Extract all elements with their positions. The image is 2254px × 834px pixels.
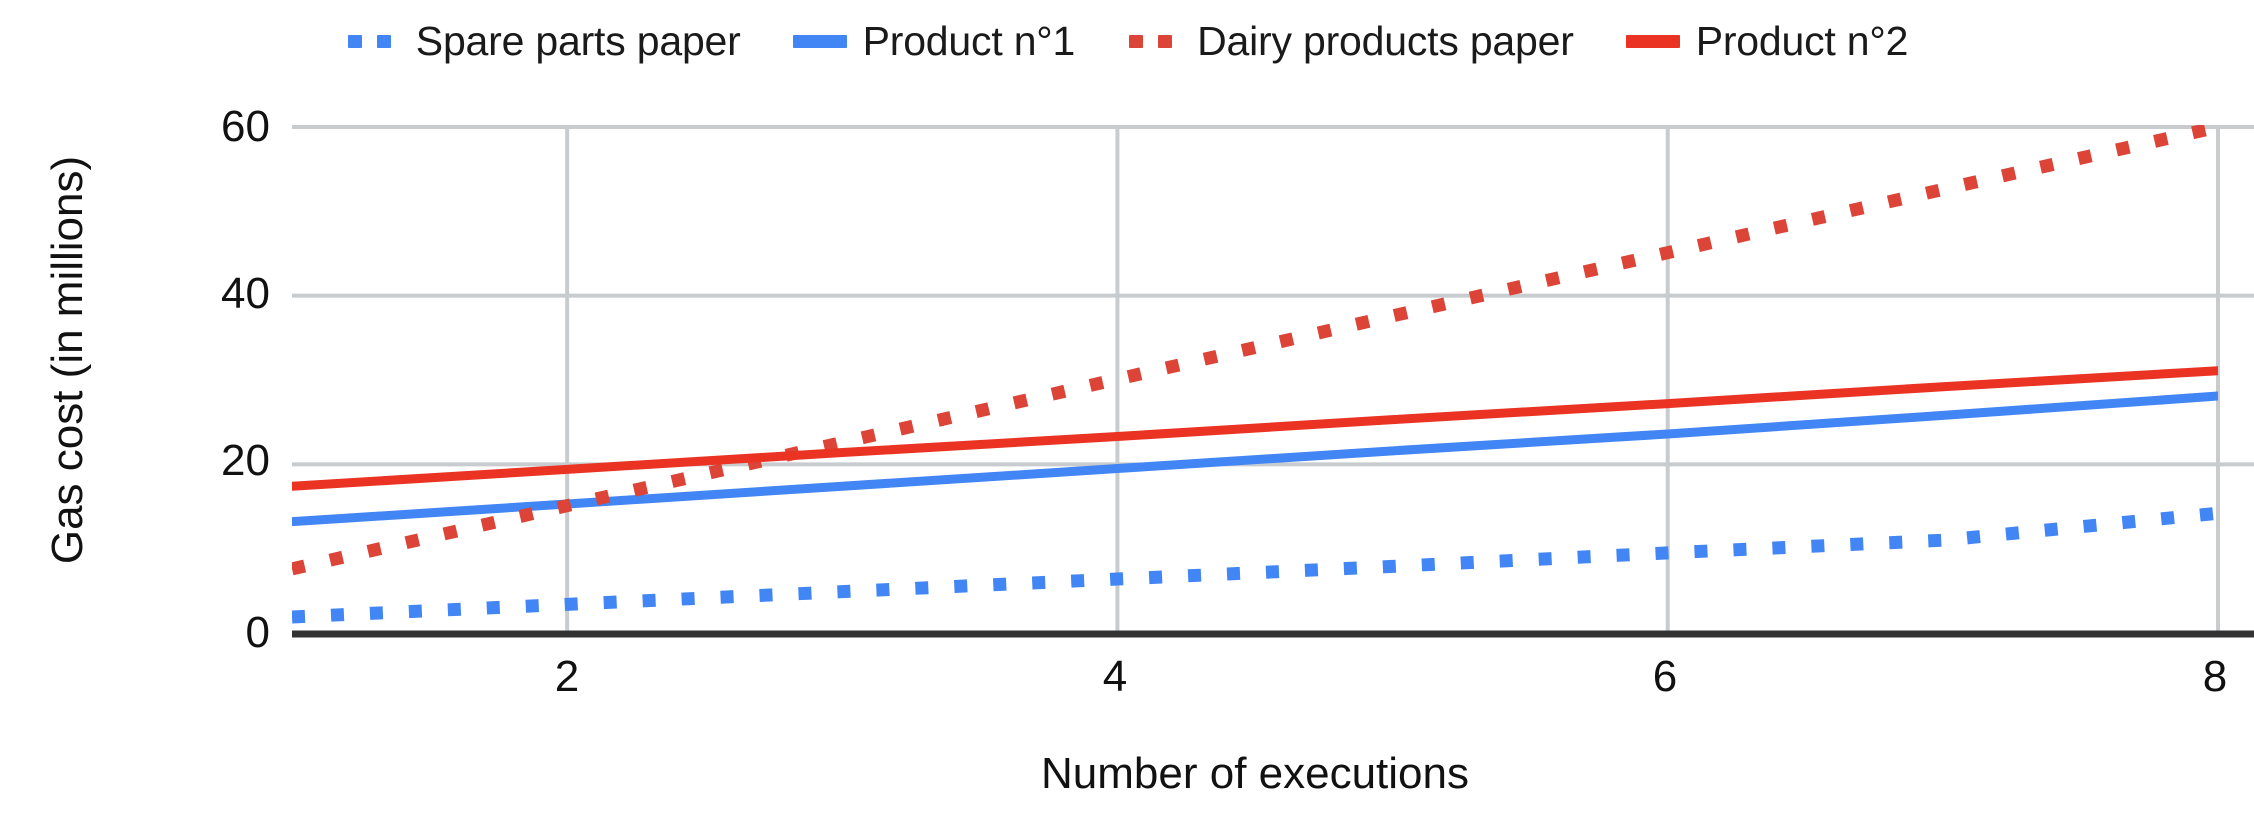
line-chart: Spare parts paper Product n°1 Dairy prod…: [0, 0, 2254, 834]
series-line: [292, 371, 2218, 487]
plot-area: [0, 0, 2254, 834]
series-line: [292, 513, 2218, 617]
series-line: [292, 396, 2218, 522]
series-lines: [292, 127, 2218, 617]
gridlines: [292, 127, 2254, 633]
